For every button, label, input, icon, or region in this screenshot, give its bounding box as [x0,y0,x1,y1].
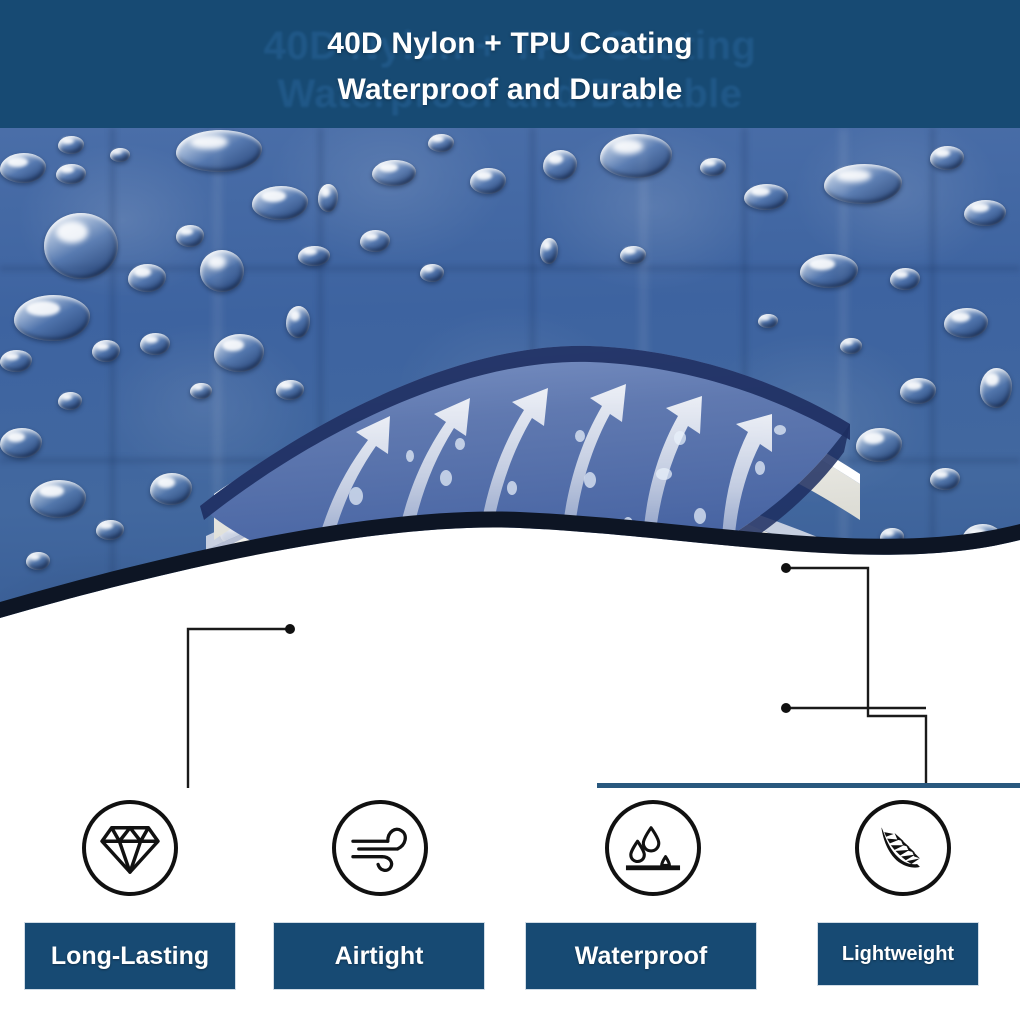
leader-line-ripstop-upper [188,629,290,788]
feature-label-text: Long-Lasting [51,942,209,971]
feature-label-long-lasting: Long-Lasting [25,923,235,989]
header-banner: 40D Nylon + TPU Coating Waterproof and D… [0,0,1020,128]
feature-lightweight[interactable]: Lightweight [775,788,1020,1020]
leader-line-temp-upper [786,568,926,783]
feature-label-text: Lightweight [842,943,954,966]
feature-long-lasting[interactable]: Long-Lasting [2,788,257,1020]
feature-label-lightweight: Lightweight [818,923,978,985]
infographic-canvas: 40D Nylon + TPU Coating Waterproof and D… [0,0,1020,1020]
feature-label-airtight: Airtight [274,923,484,989]
feature-label-waterproof: Waterproof [526,923,756,989]
surface-line [625,865,679,870]
water-drop-icon [605,800,701,896]
feature-row: Long-Lasting Airtight [0,788,1020,1020]
diamond-icon [82,800,178,896]
callout-leader-lines [0,256,1020,788]
feature-label-text: Airtight [335,942,424,971]
feature-label-text: Waterproof [575,942,707,971]
feature-waterproof[interactable]: Waterproof [525,788,780,1020]
header-title-line-2: Waterproof and Durable [0,73,1020,107]
diamond-glyph [99,820,161,876]
wind-icon [332,800,428,896]
feather-icon [855,800,951,896]
feature-airtight[interactable]: Airtight [252,788,507,1020]
header-title-line-1: 40D Nylon + TPU Coating [0,27,1020,61]
water-drop-glyph [622,820,684,876]
leader-dots [285,563,791,788]
wind-glyph [349,820,411,876]
hero-image: Durable Ripstop Temperature Insulation [0,128,1020,788]
feather-glyph [873,820,933,876]
